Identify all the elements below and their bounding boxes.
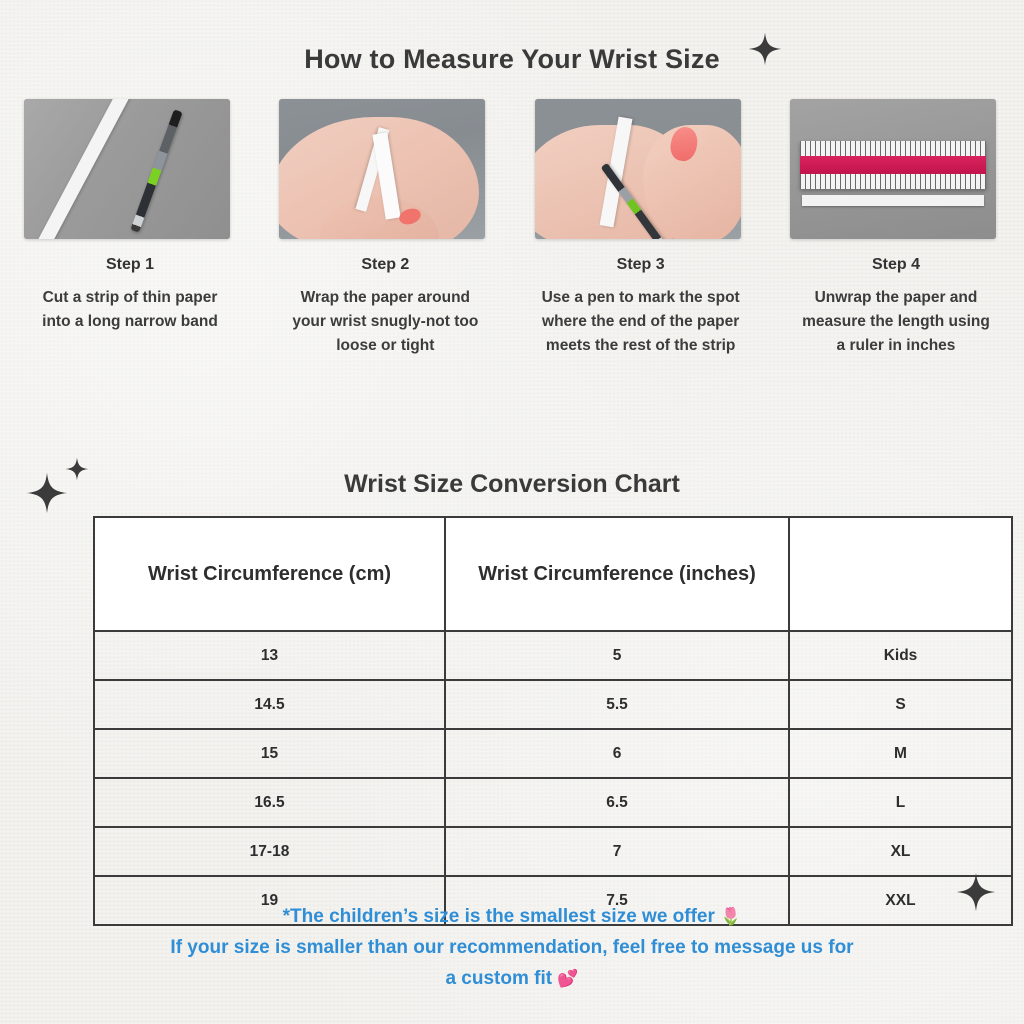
step-2-photo — [279, 99, 485, 239]
step-description: Use a pen to mark the spot where the end… — [535, 286, 747, 358]
cell-size: M — [789, 729, 1012, 778]
step-label: Step 2 — [279, 256, 491, 274]
step-1-photo — [24, 99, 230, 239]
cell-cm: 15 — [94, 729, 445, 778]
table-row: 16.5 6.5 L — [94, 778, 1012, 827]
column-header-inches: Wrist Circumference (inches) — [445, 517, 789, 631]
footer-line-1: *The children’s size is the smallest siz… — [283, 906, 721, 927]
cell-cm: 16.5 — [94, 778, 445, 827]
step-card-3: Step 3 Use a pen to mark the spot where … — [535, 99, 747, 358]
footer-line-2: If your size is smaller than our recomme… — [170, 937, 853, 958]
step-label: Step 3 — [535, 256, 747, 274]
step-description: Cut a strip of thin paper into a long na… — [26, 286, 234, 334]
table-row: 15 6 M — [94, 729, 1012, 778]
step-label: Step 1 — [24, 256, 236, 274]
cell-inches: 6 — [445, 729, 789, 778]
cell-inches: 5 — [445, 631, 789, 680]
cell-cm: 14.5 — [94, 680, 445, 729]
step-card-4: Step 4 Unwrap the paper and measure the … — [790, 99, 1002, 358]
cell-cm: 17-18 — [94, 827, 445, 876]
footer-note: *The children’s size is the smallest siz… — [0, 902, 1024, 994]
infographic-page: How to Measure Your Wrist Size Step 1 Cu… — [0, 0, 1024, 1024]
sparkle-icon — [748, 32, 782, 66]
cell-size: S — [789, 680, 1012, 729]
paper-strip-shape — [802, 195, 984, 206]
table-row: 13 5 Kids — [94, 631, 1012, 680]
step-description: Unwrap the paper and measure the length … — [794, 286, 998, 358]
step-card-2: Step 2 Wrap the paper around your wrist … — [279, 99, 491, 358]
two-hearts-emoji-icon: 💕 — [557, 969, 578, 989]
page-title: How to Measure Your Wrist Size — [0, 44, 1024, 75]
cell-size: XL — [789, 827, 1012, 876]
cell-size: L — [789, 778, 1012, 827]
step-4-photo — [790, 99, 996, 239]
steps-row: Step 1 Cut a strip of thin paper into a … — [24, 99, 1002, 358]
cell-inches: 6.5 — [445, 778, 789, 827]
table-row: 14.5 5.5 S — [94, 680, 1012, 729]
wrist-size-conversion-table: Wrist Circumference (cm) Wrist Circumfer… — [93, 516, 1013, 926]
table-row: 17-18 7 XL — [94, 827, 1012, 876]
table-header-row: Wrist Circumference (cm) Wrist Circumfer… — [94, 517, 1012, 631]
column-header-cm: Wrist Circumference (cm) — [94, 517, 445, 631]
ruler-shape — [800, 141, 986, 189]
chart-title: Wrist Size Conversion Chart — [0, 470, 1024, 499]
step-description: Wrap the paper around your wrist snugly-… — [281, 286, 489, 358]
column-header-size — [789, 517, 1012, 631]
cell-inches: 5.5 — [445, 680, 789, 729]
cell-cm: 13 — [94, 631, 445, 680]
step-card-1: Step 1 Cut a strip of thin paper into a … — [24, 99, 236, 358]
step-3-photo — [535, 99, 741, 239]
step-label: Step 4 — [790, 256, 1002, 274]
cell-inches: 7 — [445, 827, 789, 876]
tulip-emoji-icon: 🌷 — [720, 907, 741, 927]
footer-line-3: a custom fit — [445, 968, 557, 989]
cell-size: Kids — [789, 631, 1012, 680]
